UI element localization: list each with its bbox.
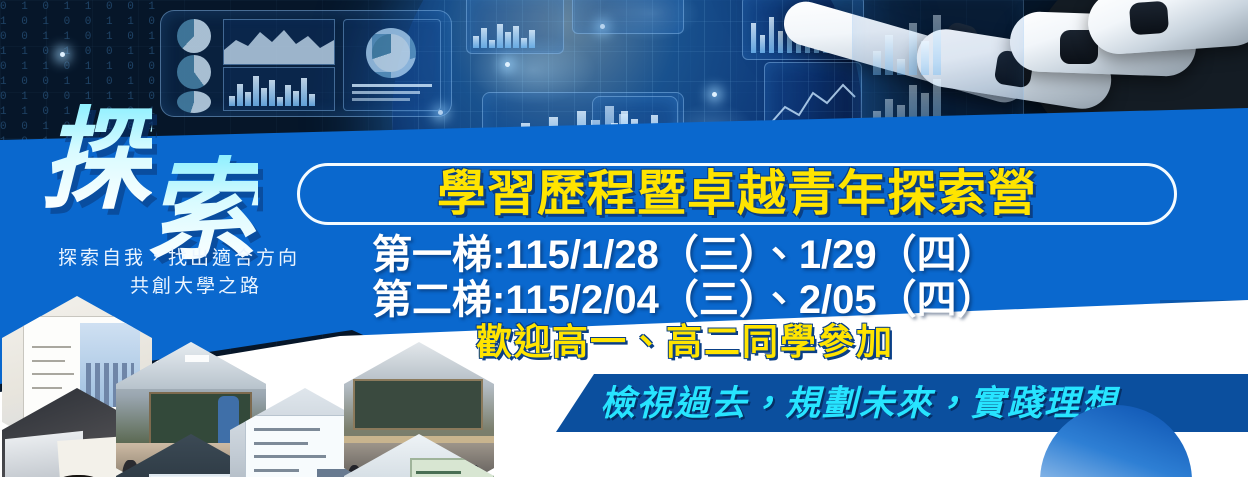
session-date-2: 第二梯:115/2/04（三）、2/05（四） [372, 277, 997, 323]
hud-donut-chart [366, 28, 416, 78]
logo-char-tan: 探 [40, 104, 152, 216]
hud-dashboard-panel [160, 10, 452, 117]
session-date-1: 第一梯:115/1/28（三）、1/29（四） [372, 232, 997, 278]
subtitle-line-1: 探索自我，找出適合方向 [58, 243, 300, 270]
subtitle-line-2: 共創大學之路 [130, 271, 262, 298]
bar-group [473, 22, 535, 48]
hud-mini-panel [572, 0, 684, 34]
area-chart-svg [224, 20, 334, 64]
hud-pie-chart [177, 91, 211, 113]
event-banner: 0 1 0 1 1 0 0 1 1 0 1 0 0 1 1 0 0 0 1 1 … [0, 0, 1248, 477]
globe-node-spark [505, 62, 510, 67]
event-headline: 學習歷程暨卓越青年探索營 [300, 166, 1174, 222]
hud-bar-chart [223, 67, 335, 111]
bar-group [229, 74, 315, 106]
hud-text-line [352, 84, 432, 87]
globe-node-spark [712, 92, 717, 97]
hud-text-line [352, 91, 420, 94]
hud-pie-chart [177, 55, 211, 89]
robot-knuckle [1129, 1, 1169, 36]
hud-text-line [352, 98, 410, 101]
hud-pie-chart [177, 19, 211, 53]
bar-group [873, 13, 941, 75]
background-light-spark [60, 52, 65, 57]
hud-mini-panel [466, 0, 564, 54]
hud-area-chart [223, 19, 335, 65]
hud-donut-panel [343, 19, 441, 111]
welcome-note: 歡迎高一、高二同學參加 [476, 320, 894, 364]
